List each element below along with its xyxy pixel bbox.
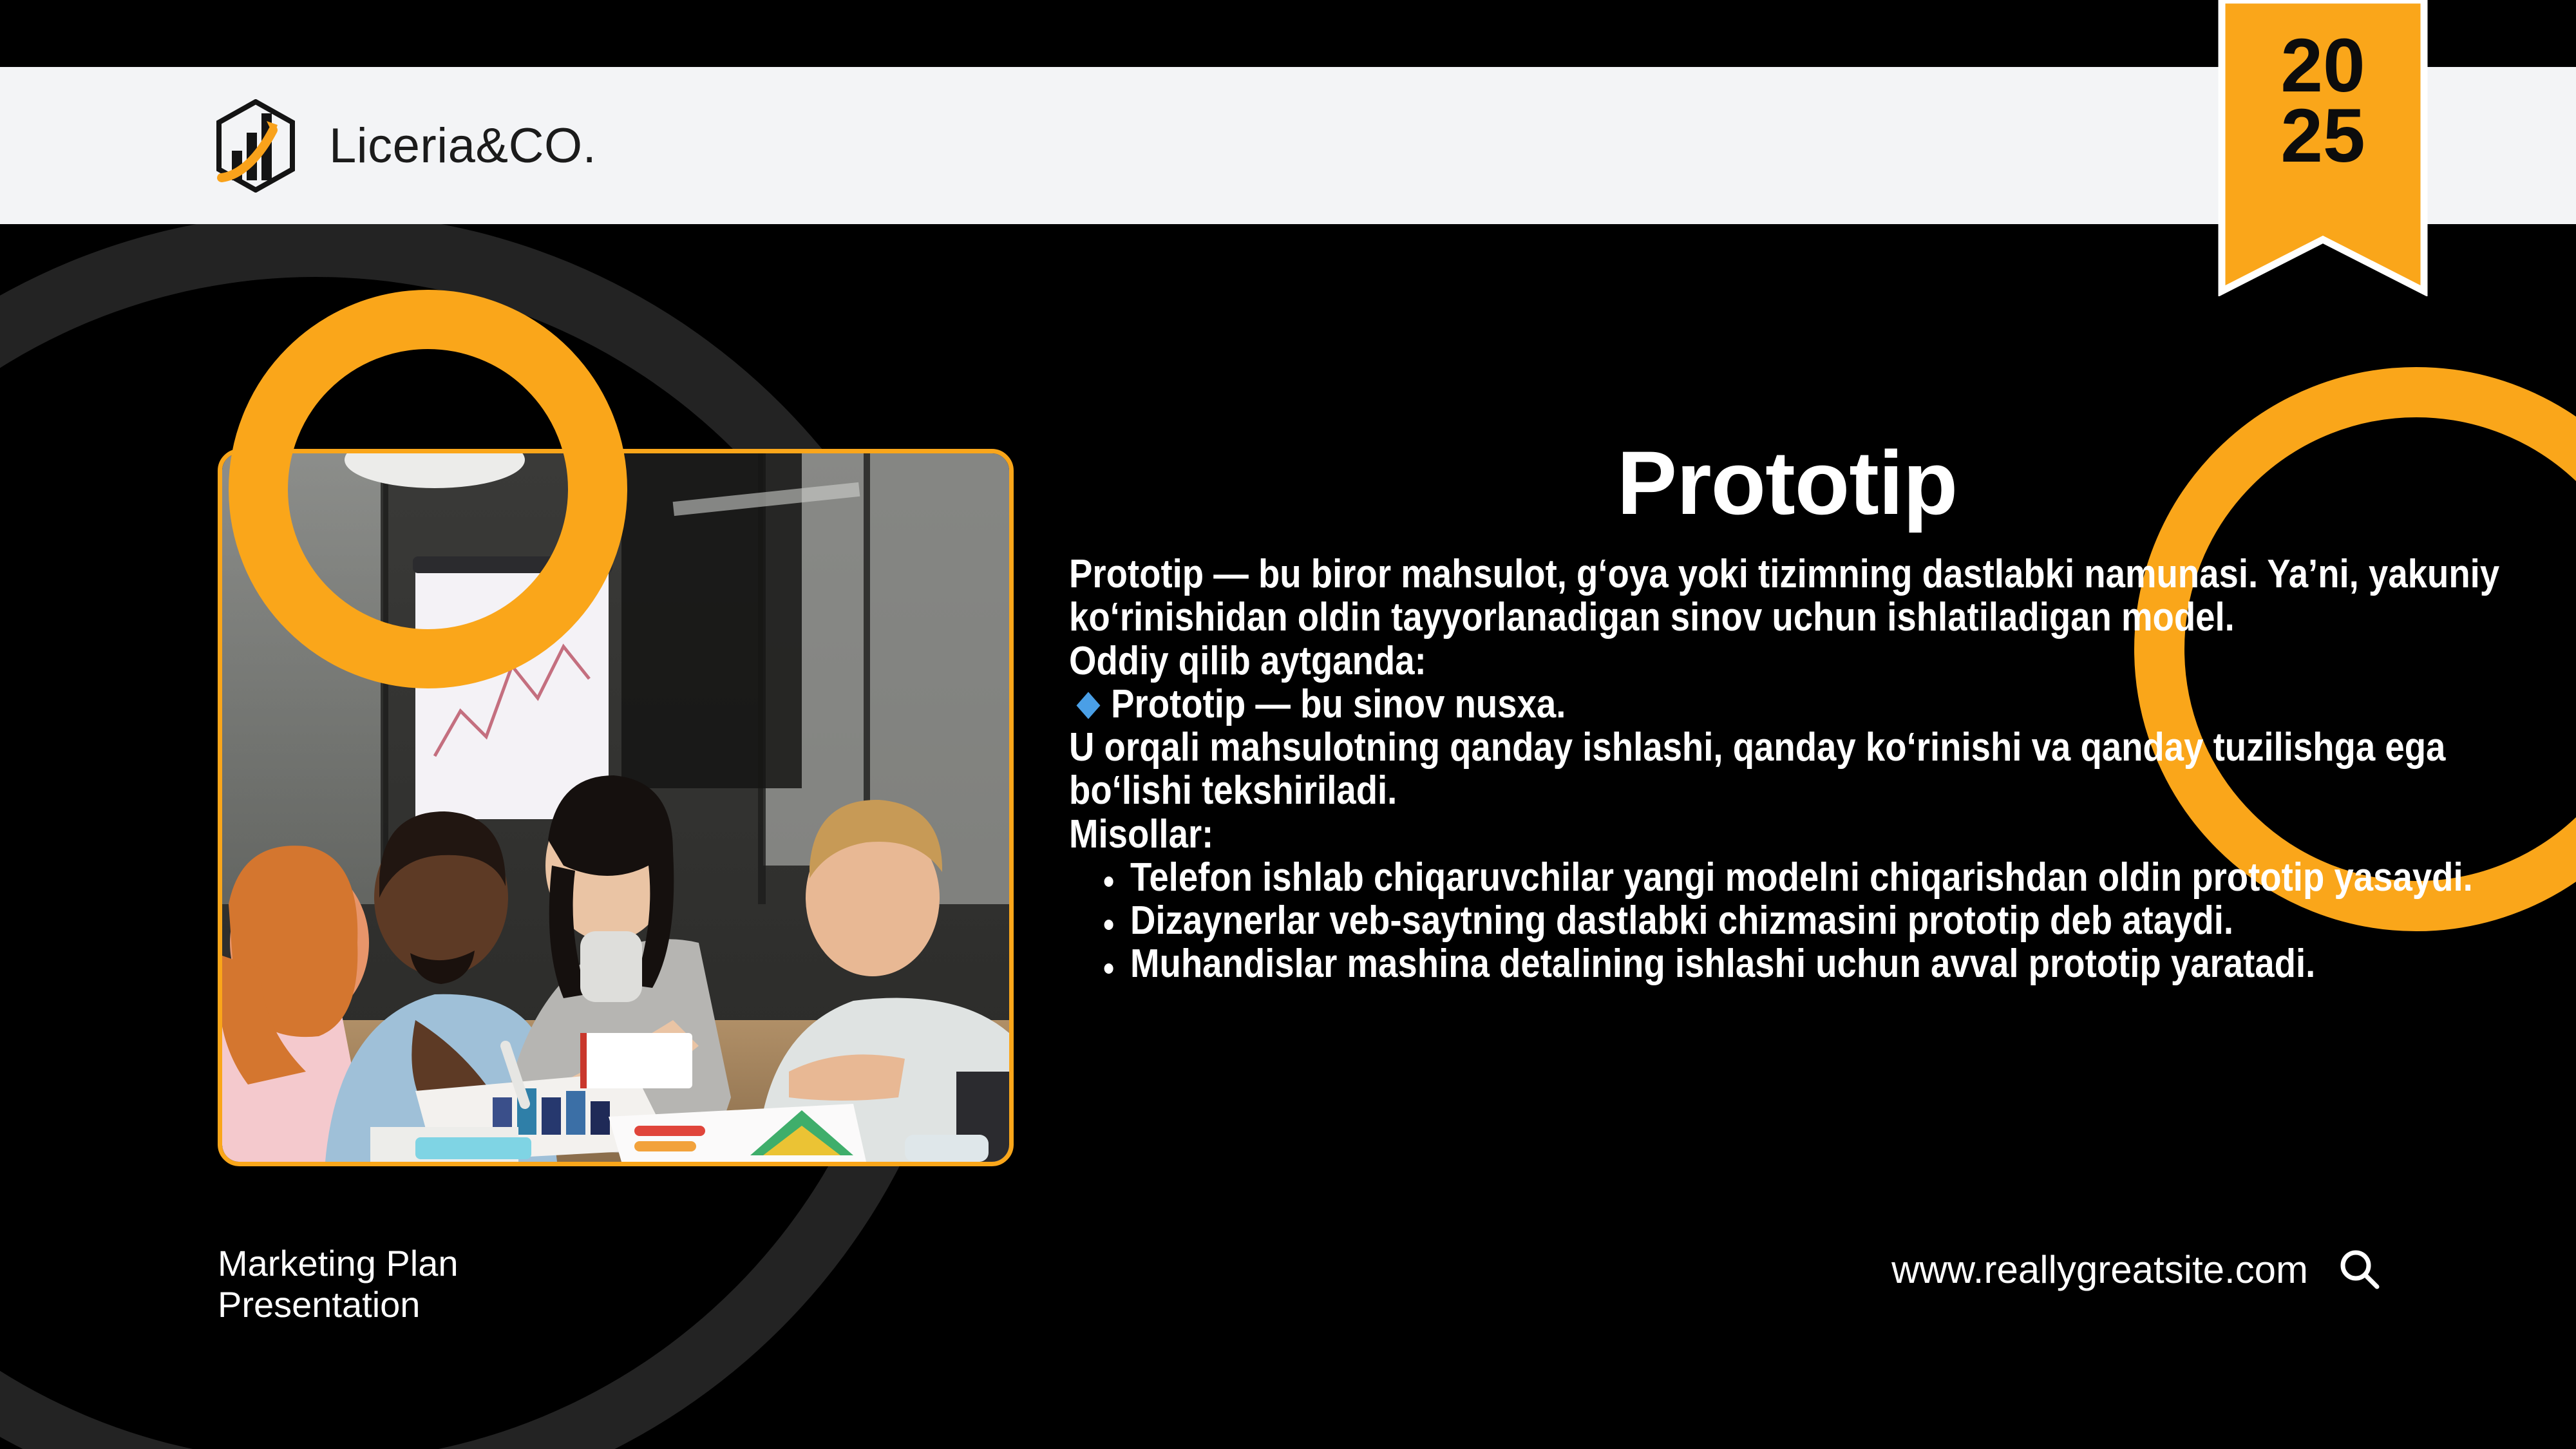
footer-line-1: Marketing Plan	[218, 1243, 459, 1284]
year-bottom: 25	[2217, 101, 2429, 171]
website-url[interactable]: www.reallygreatsite.com	[1891, 1247, 2308, 1292]
orange-ring-decoration-left	[229, 290, 627, 688]
main-content: Prototip Prototip — bu biror mahsulot, g…	[1069, 438, 2505, 986]
page-title: Prototip	[1069, 438, 2505, 528]
footer-website-group: www.reallygreatsite.com	[1891, 1246, 2383, 1293]
paragraph-definition: Prototip — bu biror mahsulot, g‘oya yoki…	[1069, 553, 2505, 639]
examples-list: Telefon ishlab chiqaruvchilar yangi mode…	[1069, 856, 2505, 986]
diamond-bullet-text: Prototip — bu sinov nusxa.	[1111, 683, 1566, 726]
paragraph-explanation: U orqali mahsulotning qanday ishlashi, q…	[1069, 726, 2505, 813]
year-ribbon-badge: 20 25	[2217, 0, 2429, 296]
lead-in-label: Oddiy qilib aytganda:	[1069, 639, 2505, 683]
list-item: Dizaynerlar veb-saytning dastlabki chizm…	[1130, 899, 2505, 942]
search-icon[interactable]	[2336, 1246, 2383, 1293]
list-item: Telefon ishlab chiqaruvchilar yangi mode…	[1130, 856, 2505, 899]
footer-line-2: Presentation	[218, 1284, 459, 1325]
slide-canvas: Liceria&CO. 20 25	[0, 0, 2576, 1449]
top-black-strip	[0, 0, 2576, 67]
body-copy: Prototip — bu biror mahsulot, g‘oya yoki…	[1069, 553, 2505, 986]
diamond-bullet-row: ◆ Prototip — bu sinov nusxa.	[1069, 683, 2505, 726]
bar-chart-hexagon-logo-icon	[213, 99, 299, 193]
footer-presentation-label: Marketing Plan Presentation	[218, 1243, 459, 1325]
diamond-bullet-icon: ◆	[1077, 683, 1099, 724]
year-label: 20 25	[2217, 31, 2429, 171]
brand-name: Liceria&CO.	[329, 118, 596, 174]
list-item: Muhandislar mashina detalining ishlashi …	[1130, 942, 2505, 985]
year-top: 20	[2217, 31, 2429, 101]
examples-label: Misollar:	[1069, 813, 2505, 856]
header-brand-group: Liceria&CO.	[213, 67, 596, 224]
